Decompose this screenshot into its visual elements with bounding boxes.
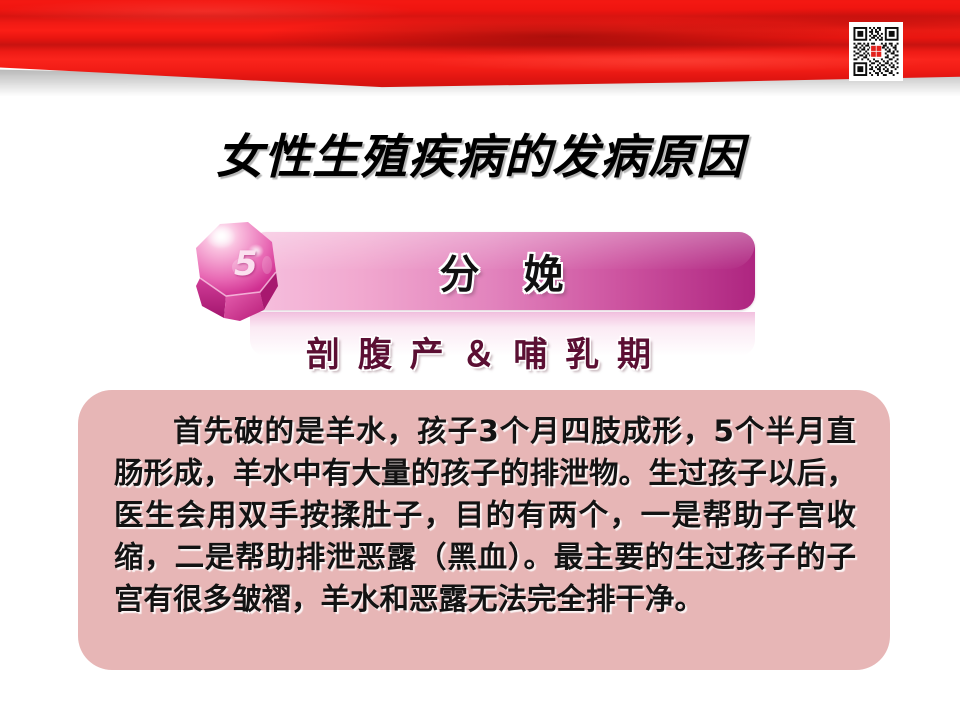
content-panel: 首先破的是羊水，孩子3个月四肢成形，5个半月直肠形成，羊水中有大量的孩子的排泄物… — [78, 390, 890, 670]
section-banner-label: 分 娩 — [250, 232, 755, 310]
content-body-text: 首先破的是羊水，孩子3个月四肢成形，5个半月直肠形成，羊水中有大量的孩子的排泄物… — [114, 410, 856, 620]
gem-number: 5 — [234, 244, 258, 284]
silk-sheen — [0, 0, 960, 90]
header-silk-banner — [0, 0, 960, 100]
section-subtitle: 剖 腹 产 ＆ 哺 乳 期 — [0, 327, 960, 376]
qr-code-icon[interactable] — [849, 22, 903, 81]
qr-code-pattern — [853, 27, 899, 76]
qr-center-logo — [870, 45, 882, 59]
silk-graphic — [0, 0, 960, 90]
page-title: 女性生殖疾病的发病原因 — [0, 118, 960, 187]
